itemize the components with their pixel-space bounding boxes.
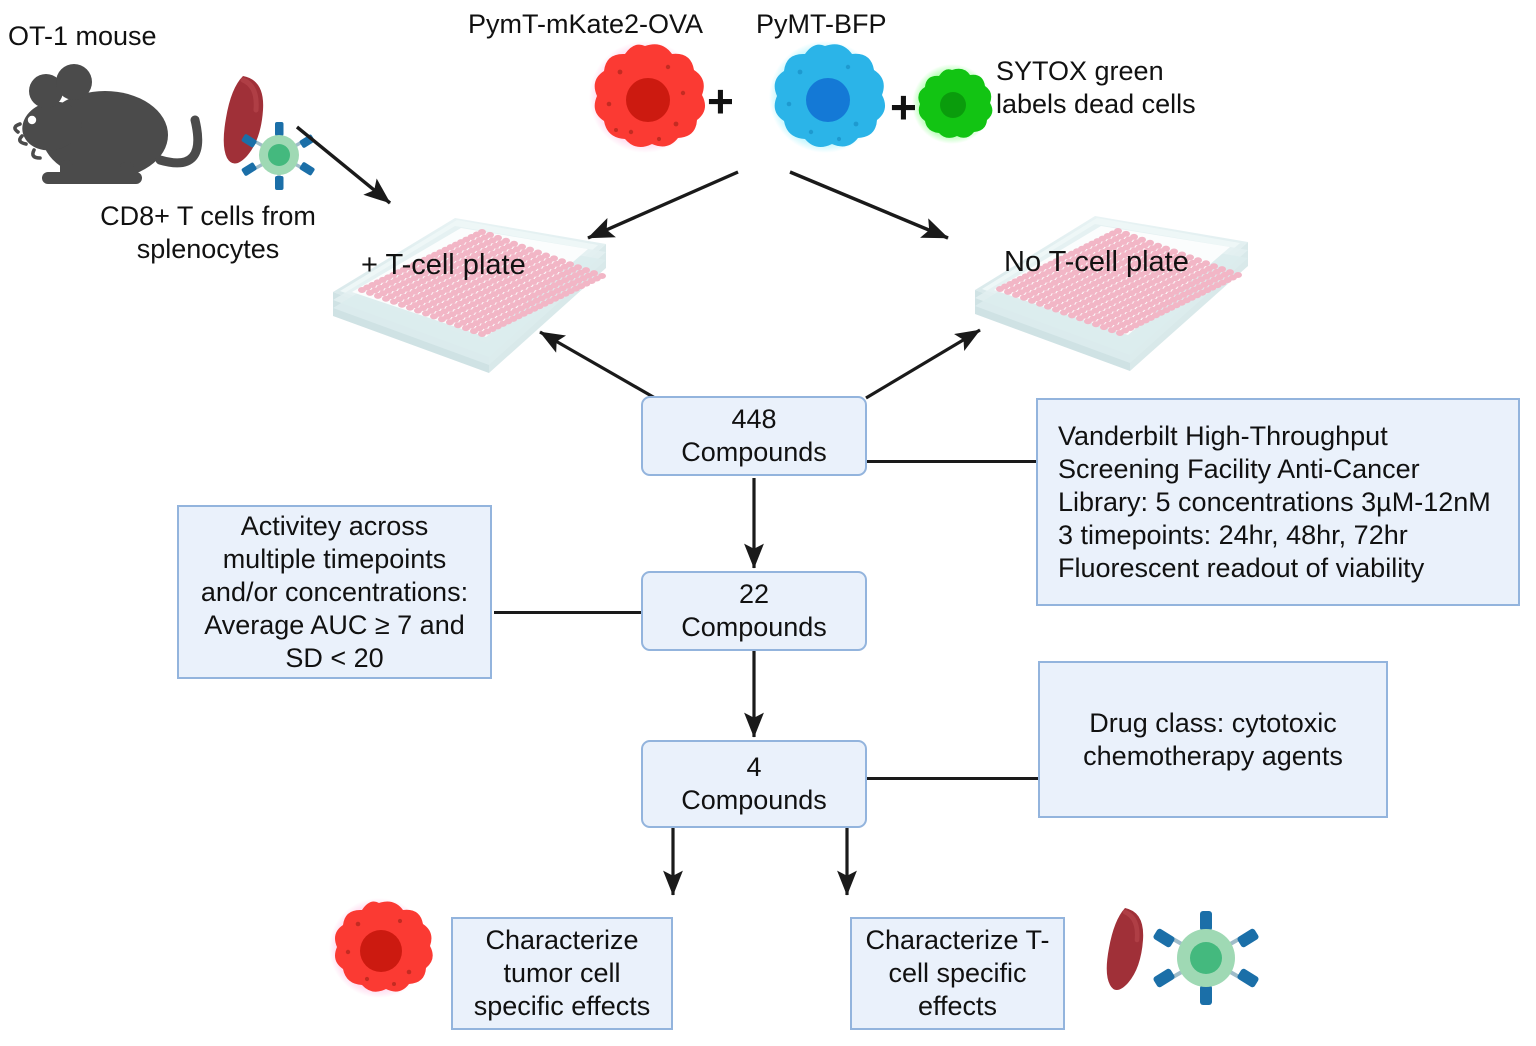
plus-sign-2: + [890, 84, 917, 130]
box-library-note[interactable]: Vanderbilt High-Throughput Screening Fac… [1036, 398, 1520, 606]
microplate-left-icon [333, 218, 606, 373]
box-drug-class-note-label: Drug class: cytotoxic chemotherapy agent… [1077, 707, 1349, 773]
t-cell-icon-bottom [1152, 911, 1259, 1005]
plate-right-label: No T-cell plate [1004, 246, 1189, 279]
t-cell-icon [241, 122, 315, 190]
spleen-icon [224, 76, 263, 164]
box-22-compounds[interactable]: 22 Compounds [641, 571, 867, 651]
box-448-compounds[interactable]: 448 Compounds [641, 396, 867, 476]
box-4-compounds-label: 4 Compounds [675, 751, 833, 817]
box-library-note-label: Vanderbilt High-Throughput Screening Fac… [1038, 420, 1518, 585]
arrow-448-to-left-plate [540, 332, 655, 398]
box-characterize-tcell[interactable]: Characterize T- cell specific effects [850, 917, 1065, 1030]
connector-4-to-drug-class-note [866, 777, 1038, 780]
tumor-red-label: PymT-mKate2-OVA [468, 8, 703, 41]
arrow-448-to-right-plate [866, 330, 980, 398]
mouse-label: OT-1 mouse [8, 20, 157, 53]
box-4-compounds[interactable]: 4 Compounds [641, 740, 867, 828]
blue-tumor-cell-icon [769, 41, 885, 153]
tcell-source-label: CD8+ T cells from splenocytes [78, 200, 338, 266]
plus-sign-1: + [707, 78, 734, 124]
arrow-cells-to-left-plate [588, 172, 738, 238]
box-drug-class-note[interactable]: Drug class: cytotoxic chemotherapy agent… [1038, 661, 1388, 818]
red-tumor-cell-icon-bottom [329, 898, 433, 998]
sytox-label: SYTOX green labels dead cells [996, 55, 1226, 121]
box-22-compounds-label: 22 Compounds [675, 578, 833, 644]
tumor-blue-label: PyMT-BFP [756, 8, 887, 41]
plate-wells [358, 229, 606, 337]
box-characterize-tumor-label: Characterize tumor cell specific effects [468, 924, 657, 1023]
box-activity-note-label: Activitey across multiple timepoints and… [195, 510, 474, 675]
plate-left-label: + T-cell plate [361, 249, 526, 282]
arrow-cells-to-right-plate [790, 172, 948, 238]
box-activity-note[interactable]: Activitey across multiple timepoints and… [177, 505, 492, 679]
green-dead-cell-icon [912, 64, 992, 144]
box-characterize-tcell-label: Characterize T- cell specific effects [859, 924, 1055, 1023]
red-tumor-cell-icon [589, 41, 705, 153]
diagram-canvas: OT-1 mouse CD8+ T cells from splenocytes… [0, 0, 1536, 1046]
connector-448-to-library-note [866, 460, 1038, 463]
connector-activity-note-to-22 [494, 611, 642, 614]
microplate-right-icon [975, 216, 1248, 371]
box-characterize-tumor[interactable]: Characterize tumor cell specific effects [451, 917, 673, 1030]
mouse-icon [15, 64, 198, 184]
spleen-icon-bottom [1107, 908, 1143, 990]
box-448-compounds-label: 448 Compounds [675, 403, 833, 469]
arrow-tcells-to-plate [297, 127, 390, 203]
